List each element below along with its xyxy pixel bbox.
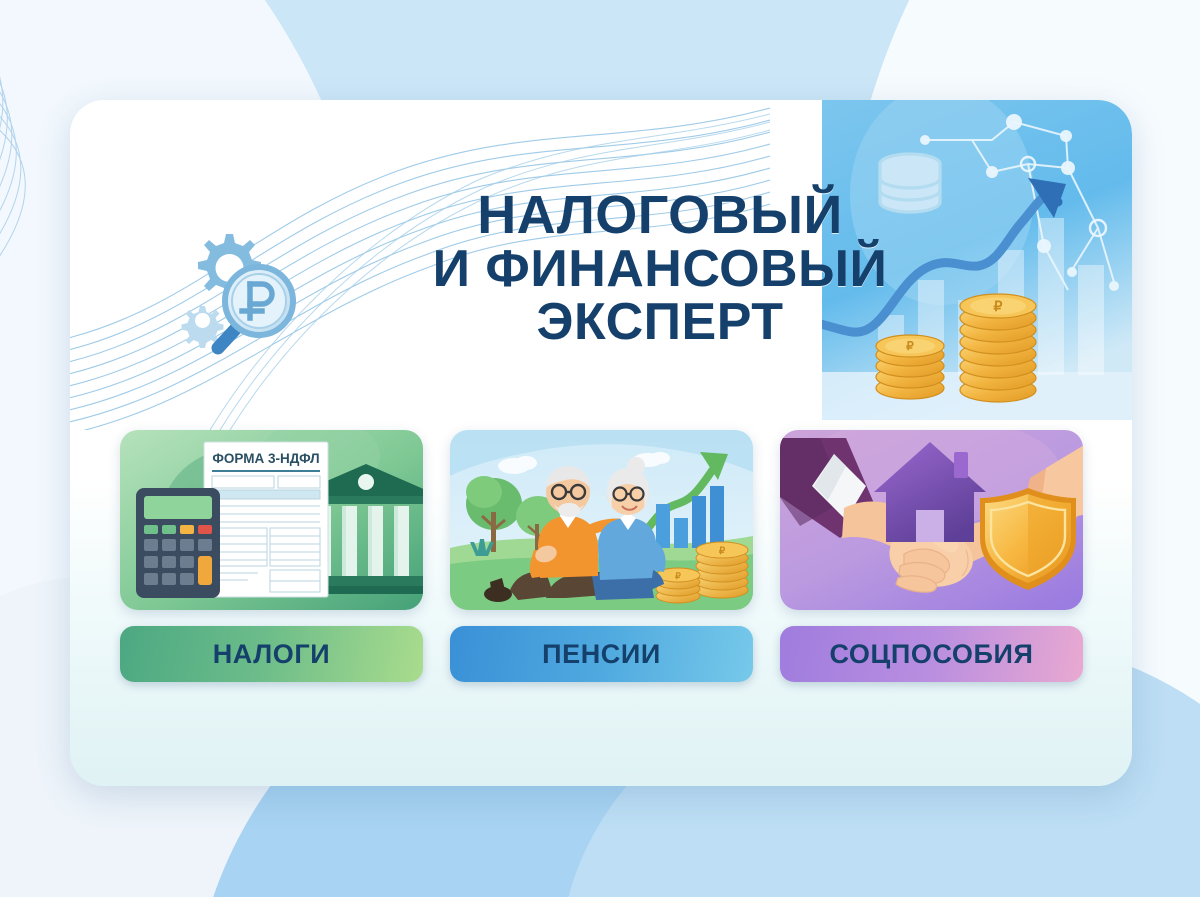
tile-benefits: СОЦПОСОБИЯ [780, 430, 1083, 682]
tile-pensions: ₽ ₽ [450, 430, 753, 682]
category-tiles: ФОРМА 3-НДФЛ [120, 430, 1082, 682]
page-title: НАЛОГОВЫЙ И ФИНАНСОВЫЙ ЭКСПЕРТ [320, 188, 1000, 349]
tax-form-document-icon: ФОРМА 3-НДФЛ [204, 442, 328, 597]
svg-text:₽: ₽ [675, 571, 681, 581]
main-content-card: ₽ ₽ [70, 100, 1132, 786]
title-line-3: ЭКСПЕРТ [320, 296, 1000, 349]
pensioners-illustration: ₽ ₽ [450, 430, 753, 610]
poster-canvas: ₽ ₽ [0, 0, 1200, 897]
tax-documents-illustration: ФОРМА 3-НДФЛ [120, 430, 423, 610]
pensions-button[interactable]: ПЕНСИИ [450, 626, 753, 682]
taxes-button[interactable]: НАЛОГИ [120, 626, 423, 682]
magnifier-ruble-gears-logo [170, 218, 310, 358]
svg-text:₽: ₽ [719, 546, 726, 557]
title-line-2: И ФИНАНСОВЫЙ [320, 243, 1000, 296]
calculator-icon [136, 488, 220, 598]
title-line-1: НАЛОГОВЫЙ [320, 188, 1000, 243]
hero-header: НАЛОГОВЫЙ И ФИНАНСОВЫЙ ЭКСПЕРТ [70, 100, 1132, 420]
document-title-text: ФОРМА 3-НДФЛ [212, 451, 319, 466]
benefits-button[interactable]: СОЦПОСОБИЯ [780, 626, 1083, 682]
social-benefits-illustration [780, 430, 1083, 610]
tile-taxes: ФОРМА 3-НДФЛ [120, 430, 423, 682]
